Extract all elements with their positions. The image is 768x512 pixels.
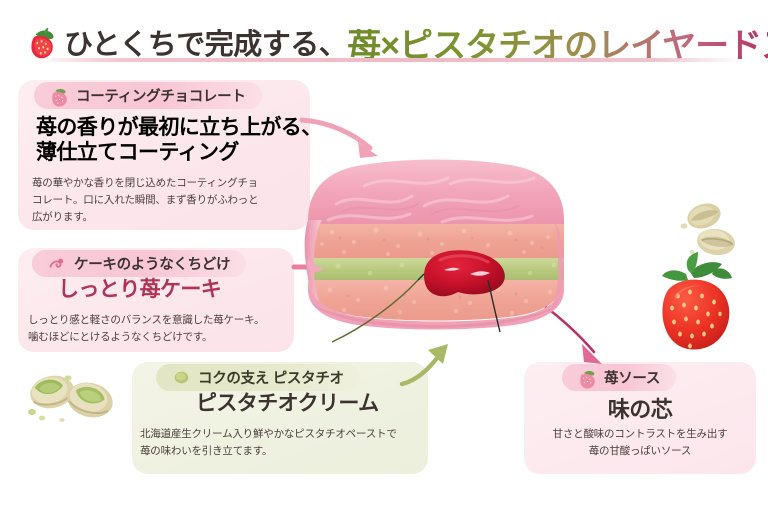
headline-strawberry-sauce: 味の芯 (524, 392, 756, 424)
headline-pistachio-cream: ピスタチオクリーム (196, 392, 379, 417)
tag-label: ケーキのようなくちどけ (74, 253, 230, 274)
headline-line-2: 薄仕立てコーティング (36, 141, 322, 166)
infographic-canvas: ひとくちで完成する、 苺×ピスタチオのレイヤードスイーツ コーティングチョコレー… (0, 0, 768, 512)
tag-label: コーティングチョコレート (76, 85, 246, 106)
body-line: コレート。口に入れた瞬間、まず香りがふわっと (32, 192, 282, 209)
headline-strawberry-cake: しっとり苺ケーキ (58, 278, 221, 303)
body-line: 北海道産生クリーム入り鮮やかなピスタチオペーストで (140, 426, 424, 443)
page-header: ひとくちで完成する、 苺×ピスタチオのレイヤードスイーツ (0, 8, 768, 70)
header-underline (34, 58, 740, 62)
body-strawberry-sauce: 甘さと酸味のコントラストを生み出す 苺の甘酸っぱいソース (524, 426, 756, 460)
body-strawberry-cake: しっとり感と軽さのバランスを意識した苺ケーキ。 噛むほどにとけるようなくちどけで… (28, 312, 276, 346)
body-line: 苺の甘酸っぱいソース (524, 443, 756, 460)
pistachio-icon (172, 368, 191, 387)
tag-coating-chocolate[interactable]: コーティングチョコレート (34, 82, 262, 109)
strawberry-icon (50, 86, 69, 105)
tag-strawberry-cake[interactable]: ケーキのようなくちどけ (32, 250, 246, 277)
strawberry-icon (28, 26, 62, 60)
body-line: 広がります。 (32, 209, 282, 226)
body-coating-chocolate: 苺の華やかな香りを閉じ込めたコーティングチョ コレート。口に入れた瞬間、まず香り… (32, 175, 282, 226)
body-line: しっとり感と軽さのバランスを意識した苺ケーキ。 (28, 312, 276, 329)
tag-pistachio-cream[interactable]: コクの支え ピスタチオ (156, 364, 360, 391)
headline-line-1: ピスタチオクリーム (196, 392, 379, 417)
tag-label: コクの支え ピスタチオ (198, 367, 344, 388)
header-left-text: ひとくちで完成する、 (64, 31, 347, 60)
body-line: 噛むほどにとけるようなくちどけです。 (28, 329, 276, 346)
body-line: 苺の華やかな香りを閉じ込めたコーティングチョ (32, 175, 282, 192)
body-line: 苺の味わいを引き立てます。 (140, 443, 424, 460)
headline-line-1: しっとり苺ケーキ (58, 278, 221, 303)
body-line: 甘さと酸味のコントラストを生み出す (524, 426, 756, 443)
headline-line-1: 苺の香りが最初に立ち上がる、 (36, 116, 322, 141)
header-title-row: ひとくちで完成する、 苺×ピスタチオのレイヤードスイーツ (28, 14, 748, 62)
layered-cake-cross-section (292, 128, 580, 346)
pistachio-nuts-left (16, 366, 126, 436)
headline-coating-chocolate: 苺の香りが最初に立ち上がる、 薄仕立てコーティング (36, 116, 322, 166)
whole-strawberry (646, 252, 742, 362)
body-pistachio-cream: 北海道産生クリーム入り鮮やかなピスタチオペーストで 苺の味わいを引き立てます。 (140, 426, 424, 460)
pistachio-nuts-right (676, 198, 748, 266)
swirl-icon (48, 254, 67, 273)
